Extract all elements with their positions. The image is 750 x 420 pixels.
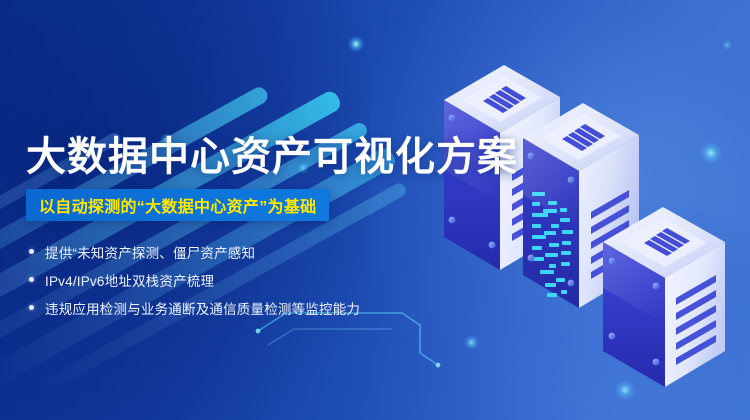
text-content: 大数据中心资产可视化方案 以自动探测的“大数据中心资产”为基础 提供“未知资产探… (0, 0, 440, 420)
bullet-dot-icon (29, 277, 34, 282)
list-item: 提供“未知资产探测、僵尸资产感知 (26, 238, 426, 265)
subtitle-bar: 以自动探测的“大数据中心资产”为基础 (26, 189, 329, 221)
list-item: IPv4/IPv6地址双栈资产梳理 (26, 266, 426, 293)
page-title: 大数据中心资产可视化方案 (26, 124, 518, 182)
list-item-label: IPv4/IPv6地址双栈资产梳理 (45, 270, 214, 290)
list-item-label: 违规应用检测与业务通断及通信质量检测等监控能力 (45, 298, 360, 318)
subtitle-text: 以自动探测的“大数据中心资产”为基础 (39, 193, 316, 217)
server-racks-illustration (432, 52, 750, 392)
server-rack-3 (603, 207, 725, 387)
list-item-label: 提供“未知资产探测、僵尸资产感知 (45, 242, 255, 262)
particle (722, 40, 732, 50)
banner: 大数据中心资产可视化方案 以自动探测的“大数据中心资产”为基础 提供“未知资产探… (0, 0, 750, 420)
bullet-dot-icon (29, 305, 34, 310)
list-item: 违规应用检测与业务通断及通信质量检测等监控能力 (26, 294, 426, 321)
feature-list: 提供“未知资产探测、僵尸资产感知 IPv4/IPv6地址双栈资产梳理 违规应用检… (26, 238, 426, 321)
bullet-dot-icon (29, 249, 34, 254)
